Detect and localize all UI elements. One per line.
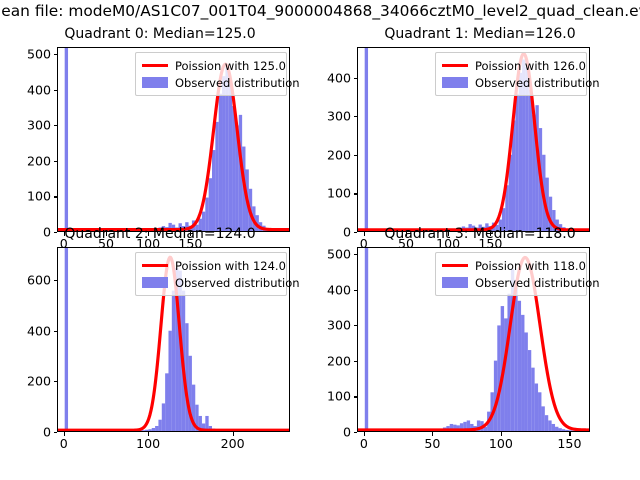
histogram-bar [65,248,68,431]
histogram-bar [165,373,168,431]
histogram-bar [538,392,541,431]
histogram-bar [518,301,521,431]
histogram-bar [142,430,145,431]
ytick-mark [54,54,58,55]
xtick-label: 150 [557,436,581,451]
histogram-bar [215,122,218,231]
ytick-label: 300 [0,118,51,133]
legend-row-observed: Observed distribution [142,274,280,291]
histogram-bar [365,48,368,231]
ytick-label: 400 [320,282,351,297]
histogram-bar [529,90,532,231]
ytick-mark [354,193,358,194]
histogram-bar [209,178,212,231]
subplot-title-quadrant-0: Quadrant 0: Median=125.0 [64,26,255,42]
legend-row-poisson: Poission with 118.0 [442,257,580,274]
ytick-label: 200 [320,147,351,162]
legend-label-observed: Observed distribution [175,76,300,90]
histogram-bar [145,430,148,431]
ytick-mark [354,155,358,156]
histogram-bar [152,428,155,431]
subplot-quadrant-1: Quadrant 1: Median=126.0 0100200300400 0… [320,26,640,240]
ytick-mark [54,280,58,281]
histogram-bar [524,332,527,431]
patch-swatch-icon [142,77,168,88]
patch-swatch-icon [442,77,468,88]
xtick-label: 100 [136,436,160,451]
patch-swatch-icon [442,277,468,288]
histogram-bar [515,94,518,231]
xtick-label: 0 [360,436,368,451]
histogram-bar [569,430,572,431]
histogram-bar [562,429,565,431]
legend-label-poisson: Poission with 124.0 [175,259,286,273]
ytick-label: 500 [0,47,51,62]
ytick-label: 400 [0,82,51,97]
ytick-mark [354,432,358,433]
ytick-mark [354,254,358,255]
histogram-bar [212,150,215,231]
legend-row-poisson: Poission with 125.0 [142,57,280,74]
ytick-label: 200 [320,353,351,368]
legend-row-poisson: Poission with 124.0 [142,257,280,274]
histogram-bar [155,426,158,431]
ytick-label: 0 [0,425,51,440]
histogram-bar [535,383,538,431]
ytick-label: 100 [0,189,51,204]
xtick-mark [364,432,365,436]
ytick-label: 100 [320,389,351,404]
legend-row-observed: Observed distribution [442,74,580,91]
histogram-bar [545,415,548,431]
histogram-bar [519,73,522,231]
line-swatch-icon [142,264,168,268]
ytick-mark [54,161,58,162]
legend-label-observed: Observed distribution [175,276,300,290]
ytick-label: 0 [320,425,351,440]
histogram-bar [148,429,151,431]
legend-label-poisson: Poission with 118.0 [475,259,586,273]
histogram-bar [172,291,175,431]
patch-swatch-icon [142,277,168,288]
subplot-quadrant-3: Quadrant 3: Median=118.0 010020030040050… [320,226,640,440]
histogram-bar [158,420,161,431]
subplot-title-quadrant-3: Quadrant 3: Median=118.0 [384,226,575,242]
ytick-mark [354,325,358,326]
legend-quadrant-0: Poission with 125.0 Observed distributio… [135,52,287,96]
xtick-label: 100 [489,436,513,451]
xtick-label: 50 [424,436,440,451]
legend-label-observed: Observed distribution [475,276,600,290]
legend-label-poisson: Poission with 126.0 [475,59,586,73]
xtick-mark [148,432,149,436]
ytick-label: 200 [0,374,51,389]
ytick-mark [54,331,58,332]
line-swatch-icon [442,264,468,268]
line-swatch-icon [442,64,468,68]
ytick-label: 300 [320,318,351,333]
ytick-mark [354,116,358,117]
ytick-mark [354,78,358,79]
ytick-label: 600 [0,272,51,287]
histogram-bar [219,94,222,231]
ytick-mark [354,361,358,362]
histogram-bar [565,430,568,431]
histogram-bar [504,318,507,431]
xtick-mark [64,432,65,436]
ytick-label: 200 [0,153,51,168]
histogram-bar [365,248,368,431]
histogram-bar [65,48,68,231]
histogram-bar [497,325,500,431]
ytick-label: 400 [320,70,351,85]
subplot-quadrant-0: Quadrant 0: Median=125.0 010020030040050… [0,26,320,240]
ytick-mark [54,381,58,382]
legend-row-observed: Observed distribution [142,74,280,91]
histogram-bar [548,420,551,431]
legend-quadrant-1: Poission with 126.0 Observed distributio… [435,52,587,96]
histogram-bar [162,403,165,431]
histogram-bar [541,406,544,431]
ytick-mark [54,125,58,126]
subplot-title-quadrant-1: Quadrant 1: Median=126.0 [384,26,575,42]
histogram-bar [528,350,531,431]
xtick-label: 0 [60,436,68,451]
ytick-label: 500 [320,247,351,262]
histogram-bar [168,331,171,431]
xtick-label: 200 [221,436,245,451]
ytick-label: 400 [0,323,51,338]
histogram-bar [558,428,561,431]
legend-label-poisson: Poission with 125.0 [175,59,286,73]
ytick-mark [54,432,58,433]
histogram-bar [552,424,555,431]
legend-quadrant-2: Poission with 124.0 Observed distributio… [135,252,287,296]
legend-label-observed: Observed distribution [475,76,600,90]
matplotlib-figure: Clean file: modeM0/AS1C07_001T04_9000004… [0,0,640,480]
xtick-mark [569,432,570,436]
histogram-bar [222,76,225,231]
histogram-bar [555,427,558,431]
figure-suptitle: Clean file: modeM0/AS1C07_001T04_9000004… [0,2,640,20]
legend-row-observed: Observed distribution [442,274,580,291]
ytick-mark [354,290,358,291]
ytick-label: 100 [320,186,351,201]
line-swatch-icon [142,64,168,68]
legend-row-poisson: Poission with 126.0 [442,57,580,74]
ytick-mark [354,396,358,397]
subplot-quadrant-2: Quadrant 2: Median=124.0 0200400600 0100… [0,226,320,440]
histogram-bar [229,83,232,231]
histogram-bar [232,106,235,231]
ytick-mark [54,196,58,197]
xtick-mark [432,432,433,436]
histogram-bar [531,368,534,431]
xtick-mark [501,432,502,436]
xtick-mark [233,432,234,436]
ytick-mark [54,90,58,91]
subplot-title-quadrant-2: Quadrant 2: Median=124.0 [64,226,255,242]
histogram-bar [521,315,524,431]
ytick-label: 300 [320,109,351,124]
legend-quadrant-3: Poission with 118.0 Observed distributio… [435,252,587,296]
